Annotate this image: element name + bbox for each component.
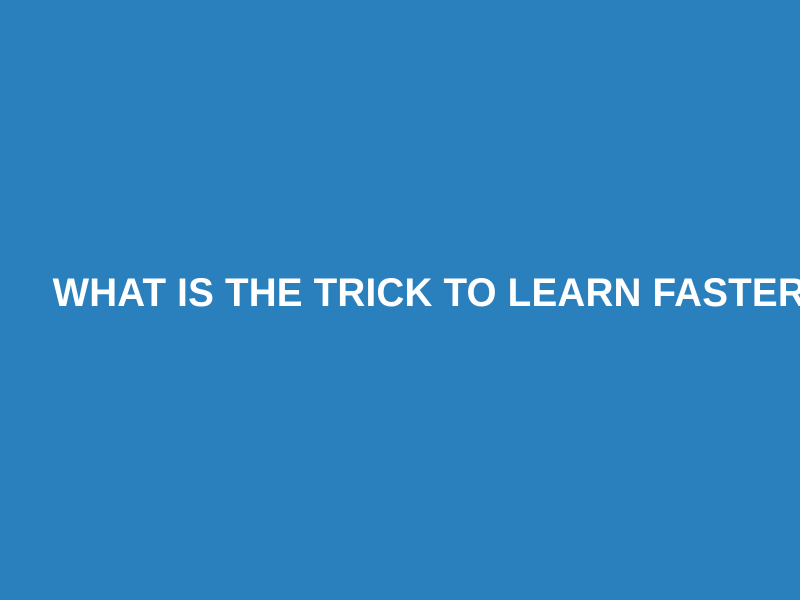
banner-content: What is the trick to learn faster? (0, 269, 800, 317)
page-title: What is the trick to learn faster? (14, 269, 786, 317)
article-header-banner: What is the trick to learn faster? (0, 0, 800, 600)
